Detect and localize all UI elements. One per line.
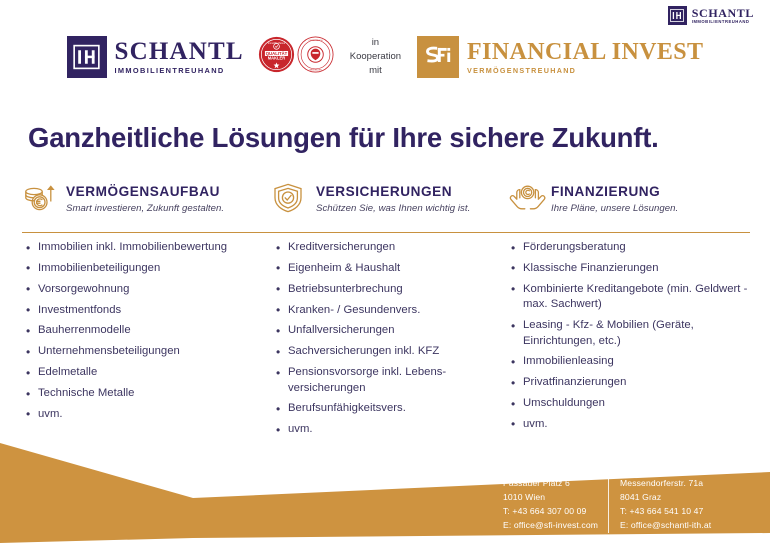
list-item: Förderungsberatung — [523, 240, 757, 255]
section-headers: VERMÖGENSAUFBAU Smart investieren, Zukun… — [22, 182, 752, 222]
service-list: FörderungsberatungKlassische Finanzierun… — [507, 240, 757, 432]
cooperation-line-1: in — [372, 37, 379, 48]
office-graz: Office Graz: Messendorferstr. 71a 8041 G… — [608, 463, 711, 533]
list-item: Kombinierte Kreditangebote (min. Geldwer… — [523, 282, 757, 313]
gold-divider — [22, 232, 750, 233]
corner-logo-tagline: IMMOBILIENTREUHAND — [692, 20, 754, 24]
office-street: Passauer Platz 6 — [503, 477, 598, 491]
service-lists: Immobilien inkl. ImmobilienbewertungImmo… — [22, 240, 762, 443]
page-title: Ganzheitliche Lösungen für Ihre sichere … — [28, 122, 659, 154]
section-subtitle: Smart investieren, Zukunft gestalten. — [66, 203, 224, 214]
office-phone[interactable]: T: +43 664 307 00 09 — [503, 505, 598, 519]
section-header-versicherungen: VERSICHERUNGEN Schützen Sie, was Ihnen w… — [272, 182, 507, 222]
list-item: Klassische Finanzierungen — [523, 261, 757, 276]
list-item: Eigenheim & Haushalt — [288, 261, 507, 276]
list-item: Immobilienleasing — [523, 354, 757, 369]
ith-logo-tagline: IMMOBILIENTREUHAND — [115, 67, 244, 74]
sfi-logo-name: FINANCIAL INVEST — [467, 40, 703, 64]
list-item: Umschuldungen — [523, 396, 757, 411]
list-item: Kreditversicherungen — [288, 240, 507, 255]
service-list: Immobilien inkl. ImmobilienbewertungImmo… — [22, 240, 272, 422]
svg-text:IMMOBILIEN: IMMOBILIEN — [309, 70, 322, 72]
section-title: VERSICHERUNGEN — [316, 184, 470, 200]
section-title: VERMÖGENSAUFBAU — [66, 184, 224, 200]
section-title: FINANZIERUNG — [551, 184, 678, 200]
cooperation-line-2: Kooperation — [350, 51, 401, 62]
section-header-vermoegensaufbau: VERMÖGENSAUFBAU Smart investieren, Zukun… — [22, 182, 272, 222]
office-city: 1010 Wien — [503, 491, 598, 505]
list-item: Vorsorgewohnung — [38, 282, 272, 297]
cooperation-label: in Kooperation mit — [350, 36, 401, 77]
sfi-monogram-icon — [417, 36, 459, 78]
list-item: Unternehmensbeteiligungen — [38, 344, 272, 359]
list-item: Immobilien inkl. Immobilienbewertung — [38, 240, 272, 255]
list-item: Unfallversicherungen — [288, 323, 507, 338]
certification-seals: ImmobilienScout QUALITÄT MAKLER ÖSTERREI… — [258, 36, 334, 78]
hands-holding-coin-icon — [507, 182, 543, 214]
austria-eagle-seal-icon: ÖSTERREICH IMMOBILIEN — [297, 36, 334, 78]
list-versicherungen: KreditversicherungenEigenheim & Haushalt… — [272, 240, 507, 443]
section-header-finanzierung: FINANZIERUNG Ihre Pläne, unsere Lösungen… — [507, 182, 752, 222]
list-item: Sachversicherungen inkl. KFZ — [288, 344, 507, 359]
list-item: Kranken- / Gesundenvers. — [288, 303, 507, 318]
ith-monogram-icon — [668, 6, 687, 25]
office-wien: Office Wien: Passauer Platz 6 1010 Wien … — [503, 463, 608, 533]
corner-logo-name: SCHANTL — [692, 7, 754, 19]
office-title: Office Graz: — [620, 463, 711, 477]
brochure-page: SCHANTL IMMOBILIENTREUHAND SCHANTL IMMOB… — [0, 0, 770, 543]
list-item: Immobilienbeteiligungen — [38, 261, 272, 276]
service-list: KreditversicherungenEigenheim & Haushalt… — [272, 240, 507, 438]
section-subtitle: Ihre Pläne, unsere Lösungen. — [551, 203, 678, 214]
list-item: Leasing - Kfz- & Mobilien (Geräte, Einri… — [523, 318, 757, 349]
office-email[interactable]: E: office@sfi-invest.com — [503, 519, 598, 533]
list-item: Pensionsvorsorge inkl. Lebens-versicheru… — [288, 365, 507, 396]
ith-monogram-icon — [67, 36, 107, 78]
shield-check-icon — [272, 182, 308, 214]
list-item: Privatfinanzierungen — [523, 375, 757, 390]
list-finanzierung: FörderungsberatungKlassische Finanzierun… — [507, 240, 757, 443]
sfi-logo-tagline: VERMÖGENSTREUHAND — [467, 67, 703, 74]
coins-euro-growth-icon — [22, 182, 58, 214]
ith-logo: SCHANTL IMMOBILIENTREUHAND — [67, 36, 244, 78]
list-vermoegensaufbau: Immobilien inkl. ImmobilienbewertungImmo… — [22, 240, 272, 443]
ith-logo-name: SCHANTL — [115, 39, 244, 64]
footer-contacts: Office Wien: Passauer Platz 6 1010 Wien … — [503, 463, 711, 533]
list-item: uvm. — [38, 407, 272, 422]
list-item: Bauherrenmodelle — [38, 323, 272, 338]
office-title: Office Wien: — [503, 463, 598, 477]
list-item: Berufsunfähigkeitsvers. — [288, 401, 507, 416]
list-item: Betriebsunterbrechung — [288, 282, 507, 297]
list-item: Edelmetalle — [38, 365, 272, 380]
svg-text:MAKLER: MAKLER — [268, 56, 285, 61]
office-phone[interactable]: T: +43 664 541 10 47 — [620, 505, 711, 519]
sfi-logo: FINANCIAL INVEST VERMÖGENSTREUHAND — [417, 36, 703, 78]
cooperation-line-3: mit — [369, 65, 382, 76]
list-item: Investmentfonds — [38, 303, 272, 318]
svg-text:ÖSTERREICH: ÖSTERREICH — [308, 39, 322, 42]
qualitaets-makler-seal-icon: ImmobilienScout QUALITÄT MAKLER — [258, 36, 295, 78]
office-email[interactable]: E: office@schantl-ith.at — [620, 519, 711, 533]
list-item: Technische Metalle — [38, 386, 272, 401]
svg-text:ImmobilienScout: ImmobilienScout — [268, 42, 285, 45]
office-street: Messendorferstr. 71a — [620, 477, 711, 491]
corner-logo: SCHANTL IMMOBILIENTREUHAND — [668, 6, 754, 25]
section-subtitle: Schützen Sie, was Ihnen wichtig ist. — [316, 203, 470, 214]
header-logo-strip: SCHANTL IMMOBILIENTREUHAND ImmobilienSco… — [0, 33, 770, 81]
office-city: 8041 Graz — [620, 491, 711, 505]
